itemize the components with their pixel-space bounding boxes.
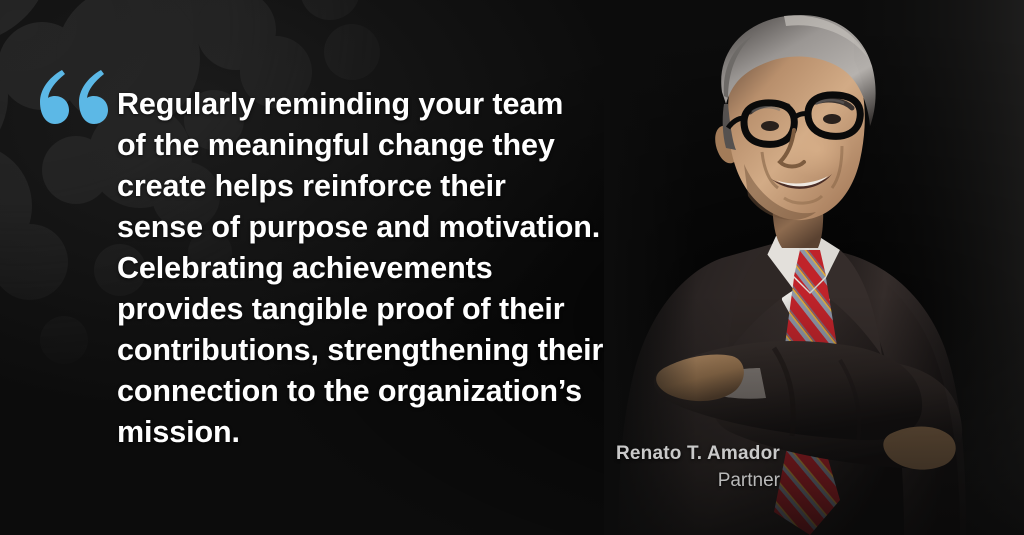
double-quote-icon (34, 66, 114, 136)
quote-text: Regularly reminding your team of the mea… (117, 84, 627, 453)
attribution-role: Partner (616, 468, 780, 494)
bokeh-circle (300, 0, 360, 20)
attribution-name: Renato T. Amador (616, 442, 780, 466)
bokeh-circle (40, 316, 88, 364)
eye-left (761, 121, 779, 131)
bokeh-circle (324, 24, 380, 80)
bokeh-circle (0, 224, 68, 300)
attribution: Renato T. Amador Partner (616, 442, 780, 494)
eye-right (823, 114, 841, 124)
quote-card: Regularly reminding your team of the mea… (0, 0, 1024, 535)
head (715, 15, 875, 220)
